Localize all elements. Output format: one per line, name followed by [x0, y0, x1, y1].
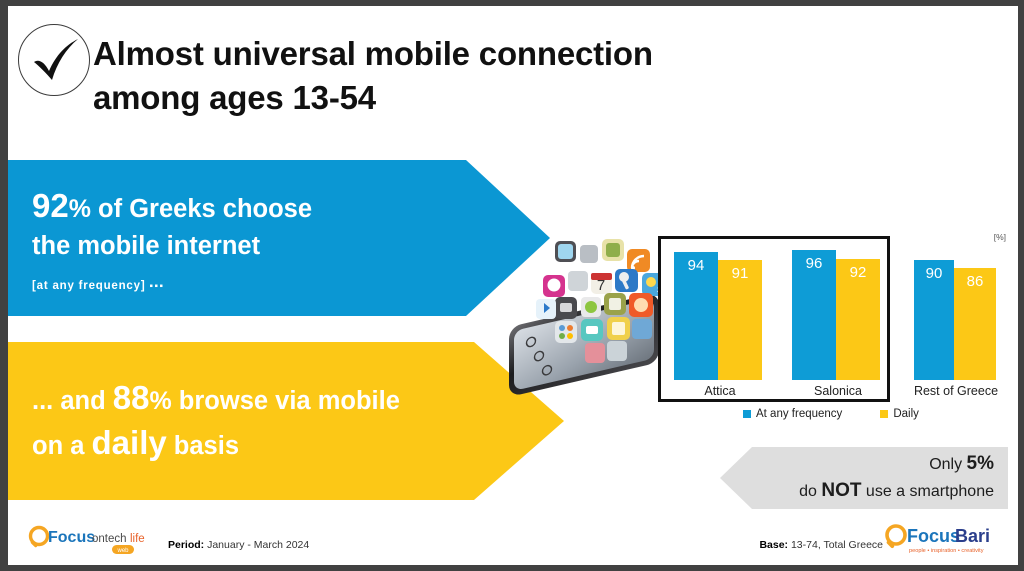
- bar-rest-of-greece-any-frequency: 90: [914, 260, 954, 380]
- banner-blue-value: 92: [32, 187, 69, 224]
- callout-smartphone: Only 5% do NOT use a smartphone: [720, 447, 1008, 509]
- callout-line2-post: use a smartphone: [861, 483, 994, 500]
- legend-item-any-frequency: At any frequency: [743, 408, 842, 420]
- bar-rest-of-greece-daily: 86: [954, 268, 996, 380]
- logo-focusbari: Focus Bari people • inspiration • creati…: [882, 521, 1008, 559]
- banner-yellow-percent: %: [149, 387, 171, 415]
- footer-period: Period: January - March 2024: [168, 539, 309, 551]
- bar-attica-daily: 91: [718, 260, 762, 380]
- banner-blue-line2: the mobile internet: [32, 229, 550, 263]
- bar-value-attica-daily: 91: [732, 265, 749, 380]
- bar-salonica-daily: 92: [836, 259, 880, 380]
- banner-yellow: ... and 88% browse via mobile on a daily…: [8, 342, 564, 500]
- banner-yellow-line2: on a daily basis: [32, 421, 564, 466]
- bar-value-rest-of-greece-any-frequency: 90: [926, 265, 943, 380]
- banner-blue-note: [at any frequency] ▪▪▪: [32, 280, 550, 292]
- slide-canvas: Almost universal mobile connection among…: [8, 6, 1018, 565]
- svg-text:life: life: [130, 533, 145, 545]
- svg-text:Bari: Bari: [955, 526, 990, 546]
- bar-value-rest-of-greece-daily: 86: [967, 273, 984, 380]
- svg-text:people • inspiration • cre: people • inspiration • creativity: [909, 548, 984, 554]
- legend-label-any-frequency: At any frequency: [756, 408, 842, 420]
- banner-yellow-value: 88: [113, 379, 150, 416]
- bar-chart: [%] 94 91 Attica 96 92 Salonica 90: [648, 228, 1018, 428]
- slide-footer: Focus ontech life web Period: January - …: [8, 513, 1018, 565]
- logo-focus-on-tech-life: Focus ontech life web: [26, 523, 168, 557]
- chart-legend: At any frequency Daily: [743, 408, 919, 420]
- bar-salonica-any-frequency: 96: [792, 250, 836, 380]
- footer-base-value: 13-74, Total Greece: [788, 539, 883, 551]
- chart-category-rest-of-greece: Rest of Greece: [904, 384, 1008, 398]
- legend-swatch-daily: [880, 410, 888, 418]
- bar-value-salonica-daily: 92: [850, 264, 867, 380]
- callout-line1-pre: Only: [929, 456, 966, 473]
- bar-value-salonica-any-frequency: 96: [806, 255, 823, 380]
- chart-unit-label: [%]: [994, 232, 1006, 242]
- legend-swatch-any-frequency: [743, 410, 751, 418]
- svg-text:ontech: ontech: [92, 533, 127, 545]
- callout-line2-pre: do: [799, 483, 821, 500]
- banner-blue-percent: %: [69, 195, 91, 223]
- svg-text:web: web: [116, 548, 129, 554]
- banner-yellow-line1-text: browse via mobile: [172, 387, 400, 415]
- banner-yellow-line1: ... and 88% browse via mobile: [32, 376, 564, 421]
- callout-line1: Only 5%: [929, 451, 994, 478]
- bar-group-attica: 94 91: [674, 252, 766, 380]
- bar-attica-any-frequency: 94: [674, 252, 718, 380]
- page-title-line2: among ages 13-54: [93, 76, 893, 120]
- banner-yellow-line2-post: basis: [167, 432, 239, 460]
- page-title: Almost universal mobile connection among…: [93, 32, 893, 119]
- svg-text:Focus: Focus: [907, 526, 960, 546]
- callout-line2: do NOT use a smartphone: [799, 478, 994, 505]
- callout-line1-emphasis: 5%: [967, 453, 994, 474]
- chart-category-salonica: Salonica: [792, 384, 884, 398]
- callout-line2-emphasis: NOT: [821, 480, 861, 501]
- banner-yellow-line2-emphasis: daily: [92, 424, 167, 461]
- banner-blue-note-dots: ▪▪▪: [149, 281, 164, 292]
- bar-group-salonica: 96 92: [792, 250, 884, 380]
- banner-blue-line1: 92% of Greeks choose: [32, 184, 550, 229]
- legend-item-daily: Daily: [880, 408, 919, 420]
- slide-frame: Almost universal mobile connection among…: [0, 0, 1024, 571]
- footer-period-label: Period:: [168, 539, 204, 551]
- banner-yellow-line2-pre: on a: [32, 432, 92, 460]
- banner-blue-note-text: [at any frequency]: [32, 280, 145, 292]
- footer-base-label: Base:: [759, 539, 788, 551]
- chart-category-attica: Attica: [674, 384, 766, 398]
- page-title-line1: Almost universal mobile connection: [93, 32, 893, 76]
- banner-blue-line1-text: of Greeks choose: [91, 195, 312, 223]
- footer-period-value: January - March 2024: [204, 539, 309, 551]
- svg-text:Focus: Focus: [48, 529, 95, 546]
- bar-value-attica-any-frequency: 94: [688, 257, 705, 380]
- footer-base: Base: 13-74, Total Greece: [759, 539, 883, 551]
- legend-label-daily: Daily: [893, 408, 919, 420]
- check-circle-icon: [18, 24, 90, 96]
- banner-blue: 92% of Greeks choose the mobile internet…: [8, 160, 550, 316]
- banner-yellow-prefix: ... and: [32, 387, 113, 415]
- bar-group-rest-of-greece: 90 86: [914, 260, 998, 380]
